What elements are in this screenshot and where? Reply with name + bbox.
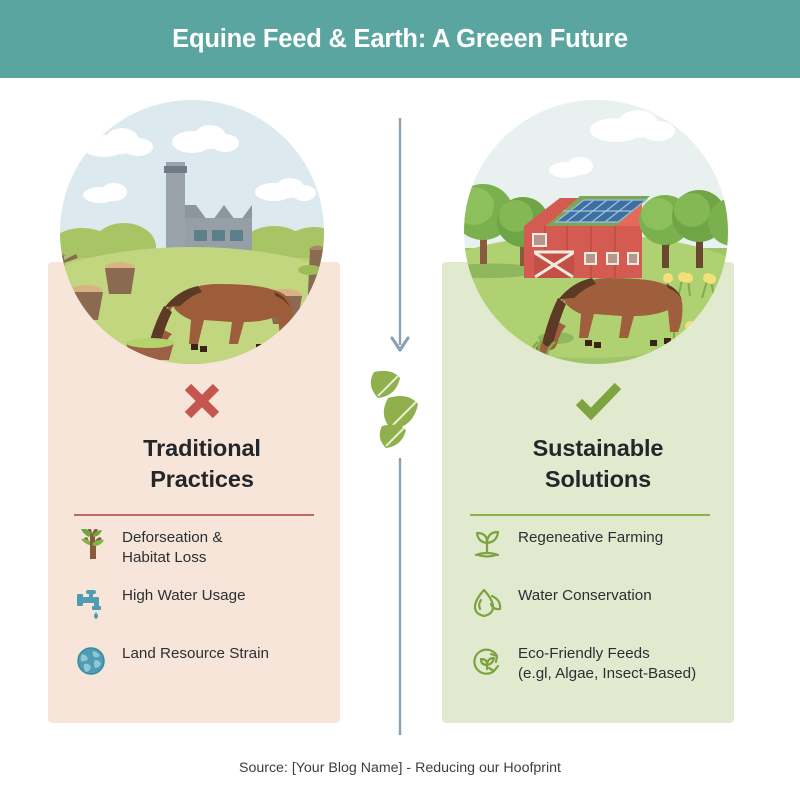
infographic-canvas: Equine Feed & Earth: A Greeen Future: [0, 0, 800, 800]
list-item-label: Regeneative Farming: [504, 526, 738, 548]
cross-mark-icon: [180, 379, 224, 428]
list-item-label-line-1: Eco-Friendly Feeds: [518, 645, 650, 662]
panel-heading-sustainable: Sustainable Solutions: [424, 433, 772, 496]
column-traditional-practices: Traditional Practices Deforseation &: [28, 100, 376, 740]
panel-heading-traditional: Traditional Practices: [28, 433, 376, 496]
down-arrow-icon: [392, 118, 408, 350]
list-item: Deforseation & Habitat Loss: [74, 526, 342, 576]
list-item-label: Water Conservation: [504, 584, 738, 606]
divider-traditional: [74, 514, 314, 516]
column-sustainable-solutions: Sustainable Solutions: [424, 100, 772, 740]
list-item-label-line-2: Habitat Loss: [122, 549, 206, 566]
bullet-list-traditional: Deforseation & Habitat Loss: [74, 526, 342, 700]
panel-heading-line-1: Sustainable: [424, 433, 772, 464]
footer-source-text: Source: [Your Blog Name] - Reducing our …: [0, 760, 800, 776]
list-item: Eco-Friendly Feeds (e.gl, Algae, Insect-…: [470, 642, 738, 692]
recycle-plant-icon: [470, 643, 504, 679]
header-bar: Equine Feed & Earth: A Greeen Future: [0, 0, 800, 78]
water-faucet-icon: [74, 585, 108, 621]
panel-heading-line-2: Practices: [28, 464, 376, 495]
divider-sustainable: [470, 514, 710, 516]
panel-heading-line-2: Solutions: [424, 464, 772, 495]
verdict-traditional: [28, 372, 376, 434]
list-item-label: High Water Usage: [108, 584, 342, 606]
water-drop-leaf-icon: [470, 585, 504, 621]
verdict-sustainable: [424, 372, 772, 434]
scene-sustainable-solar-farm-pasture: [438, 100, 758, 365]
list-item: High Water Usage: [74, 584, 342, 634]
list-item-label: Eco-Friendly Feeds (e.gl, Algae, Insect-…: [504, 642, 738, 685]
check-mark-icon: [574, 380, 622, 427]
page-title: Equine Feed & Earth: A Greeen Future: [172, 25, 628, 54]
list-item-label-line-1: Deforseation &: [122, 529, 222, 546]
bullet-list-sustainable: Regeneative Farming Water Conservation: [470, 526, 738, 700]
list-item: Water Conservation: [470, 584, 738, 634]
three-leaves-icon: [371, 371, 418, 448]
list-item: Land Resource Strain: [74, 642, 342, 692]
list-item-label: Land Resource Strain: [108, 642, 342, 664]
seedling-sprout-icon: [470, 527, 504, 563]
list-item-label-line-2: (e.gl, Algae, Insect-Based): [518, 665, 696, 682]
sapling-tree-icon: [74, 527, 108, 563]
scene-industrial-deforested-pasture: [42, 100, 362, 365]
list-item-label: Deforseation & Habitat Loss: [108, 526, 342, 569]
globe-icon: [74, 643, 108, 679]
panel-heading-line-1: Traditional: [28, 433, 376, 464]
list-item: Regeneative Farming: [470, 526, 738, 576]
